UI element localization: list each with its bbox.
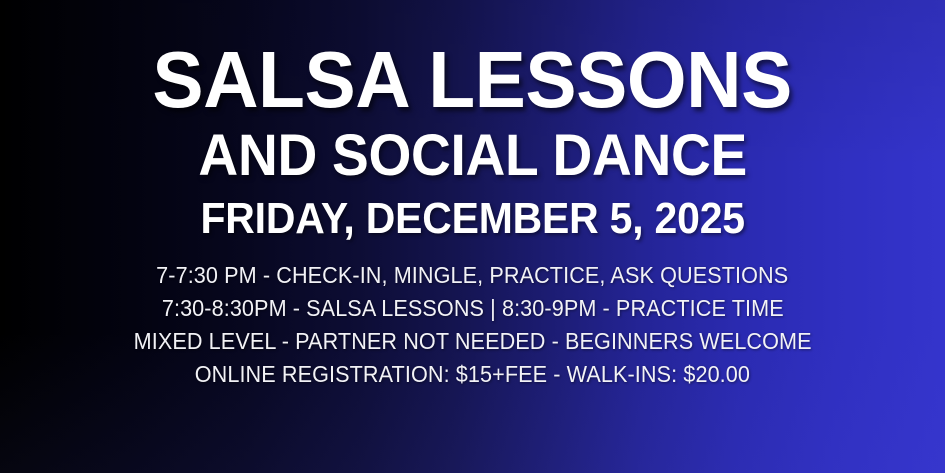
event-promo-banner: SALSA LESSONS AND SOCIAL DANCE FRIDAY, D… (0, 0, 945, 473)
banner-headline: SALSA LESSONS (153, 42, 793, 119)
banner-subheadline: AND SOCIAL DANCE (198, 127, 747, 185)
banner-date: FRIDAY, DECEMBER 5, 2025 (200, 197, 744, 241)
banner-content: SALSA LESSONS AND SOCIAL DANCE FRIDAY, D… (0, 0, 945, 473)
detail-line-schedule-lessons: 7:30-8:30PM - SALSA LESSONS | 8:30-9PM -… (162, 295, 784, 322)
detail-line-schedule-checkin: 7-7:30 PM - CHECK-IN, MINGLE, PRACTICE, … (156, 262, 788, 289)
detail-line-level-info: MIXED LEVEL - PARTNER NOT NEEDED - BEGIN… (133, 328, 811, 355)
detail-line-pricing: ONLINE REGISTRATION: $15+FEE - WALK-INS:… (195, 361, 750, 388)
banner-details-list: 7-7:30 PM - CHECK-IN, MINGLE, PRACTICE, … (112, 262, 833, 389)
